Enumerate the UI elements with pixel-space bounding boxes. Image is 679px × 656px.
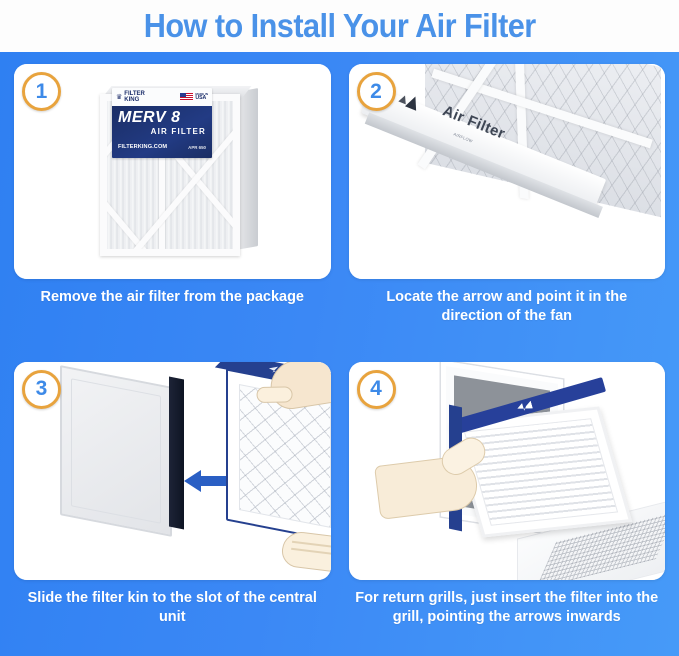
step-1-caption: Remove the air filter from the package	[14, 288, 331, 307]
page-title: How to Install Your Air Filter	[144, 7, 536, 45]
step-panel-1: 1	[14, 64, 331, 356]
step-panel-2: 2 Air Filter AIRFLOW	[349, 64, 666, 356]
step-4-card: 4	[349, 362, 666, 580]
filter-corner-airflow-arrow-photo: Air Filter AIRFLOW	[349, 64, 666, 279]
step-3-badge: 3	[22, 370, 61, 409]
website-text: FILTERKING.COM	[118, 144, 167, 150]
hand-lower	[280, 529, 330, 574]
label-bottom-row: FILTERKING.COM APR 650	[118, 144, 206, 150]
step-1-card: 1	[14, 64, 331, 279]
made-in-usa-badge: MADE IN USA	[180, 93, 208, 101]
brand-line-2: KING	[124, 97, 139, 103]
filter-corner-group: Air Filter AIRFLOW	[367, 64, 657, 248]
crown-icon: ♛	[116, 93, 122, 101]
insert-filter-into-return-grill-illustration	[349, 362, 666, 580]
central-unit-slot	[169, 376, 184, 529]
step-4-caption: For return grills, just insert the filte…	[349, 589, 666, 627]
insert-filter-into-central-unit-illustration	[14, 362, 331, 580]
filter-king-logo: ♛ FILTER KING	[116, 91, 145, 103]
central-unit-housing	[60, 365, 172, 537]
page-header: How to Install Your Air Filter	[0, 0, 679, 52]
step-panel-4: 4 For return grills, just i	[349, 362, 666, 656]
step-2-caption: Locate the arrow and point it in the dir…	[349, 288, 666, 326]
apr-rating-text: APR 650	[188, 145, 206, 150]
steps-grid: 1	[0, 52, 679, 656]
country-text: USA	[195, 95, 206, 101]
usa-flag-icon	[180, 93, 193, 101]
infographic-page: How to Install Your Air Filter 1	[0, 0, 679, 656]
step-3-card: 3	[14, 362, 331, 580]
grill-louvers	[463, 418, 617, 526]
step-2-card: 2 Air Filter AIRFLOW	[349, 64, 666, 279]
step-2-badge: 2	[357, 72, 396, 111]
label-navy-block: MERV 8 AIR FILTER FILTERKING.COM APR 650	[112, 106, 212, 158]
air-filter-subtitle: AIR FILTER	[118, 127, 206, 136]
step-1-badge: 1	[22, 72, 61, 111]
step-panel-3: 3	[14, 362, 331, 656]
brand-line-1: FILTER	[124, 91, 145, 97]
merv-rating-text: MERV 8	[118, 110, 206, 126]
step-3-caption: Slide the filter kin to the slot of the …	[14, 589, 331, 627]
filter-product-label: ♛ FILTER KING MADE IN	[112, 88, 212, 158]
step-4-badge: 4	[357, 370, 396, 409]
filter-photo-group: ♛ FILTER KING MADE IN	[100, 86, 258, 254]
air-filter-product-photo: ♛ FILTER KING MADE IN	[14, 64, 331, 279]
label-top-row: ♛ FILTER KING MADE IN	[112, 88, 212, 106]
